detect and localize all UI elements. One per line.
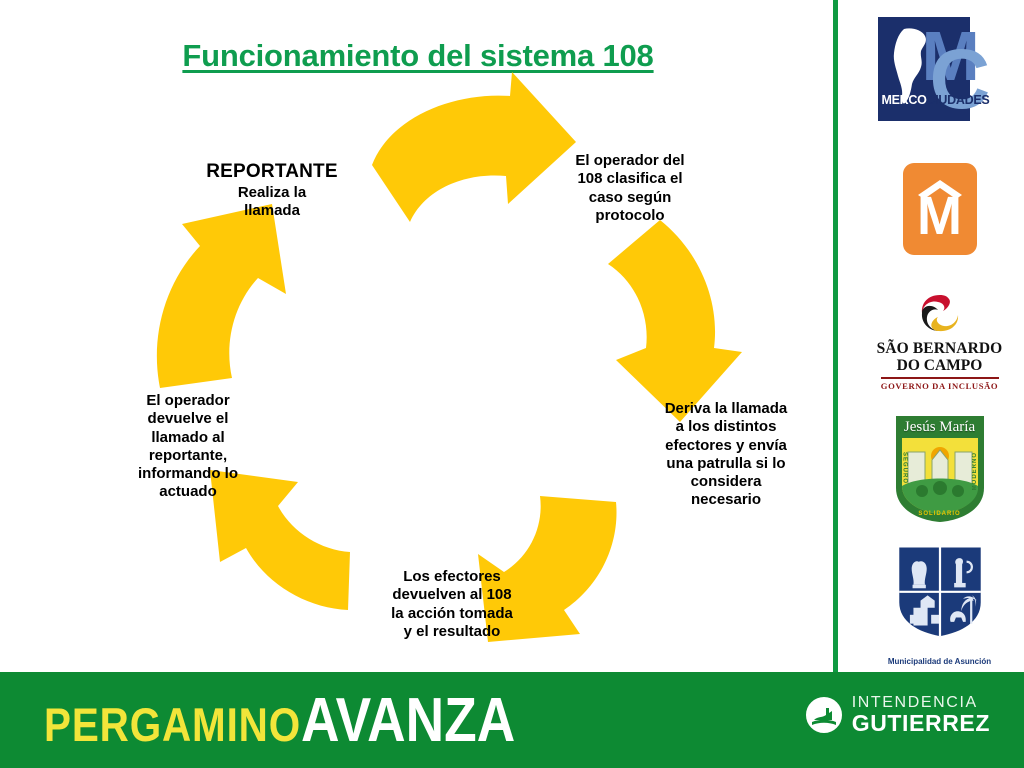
node-deriva-line6: necesario <box>634 491 818 509</box>
mercociudades-letter-c: C <box>930 37 991 121</box>
logo-mercociudades: M C MERCOCIUDADES <box>855 8 1024 132</box>
intendencia-line2: GUTIERREZ <box>852 712 990 735</box>
slide-canvas: Funcionamiento del sistema 108 <box>0 0 1024 768</box>
node-efectores-line1: Los efectores <box>368 568 536 586</box>
node-devuelve-line5: informando lo <box>100 465 276 483</box>
logo-municipalidad-asuncion: Municipalidad de Asunción <box>855 540 1024 670</box>
partner-logo-intendencia-gutierrez: INTENDENCIA GUTIERREZ <box>805 695 990 735</box>
jesus-maria-word-seguro: SEGURO <box>902 452 908 484</box>
intendencia-circle-icon <box>805 696 843 734</box>
node-devuelve-line6: actuado <box>100 483 276 501</box>
node-deriva-line2: a los distintos <box>634 418 818 436</box>
node-efectores-line2: devuelven al 108 <box>368 586 536 604</box>
brand-wordmark: PERGAMINOAVANZA <box>44 690 515 752</box>
node-efectores-line4: y el resultado <box>368 623 536 641</box>
arrow-left-up <box>157 204 286 388</box>
bottom-banner: PERGAMINOAVANZA INTENDENCIA GUTIERREZ <box>0 672 1024 768</box>
node-deriva-line5: considera <box>634 473 818 491</box>
node-clasifica: El operador del 108 clasifica el caso se… <box>546 152 714 225</box>
intendencia-line1: INTENDENCIA <box>852 695 990 711</box>
logo-jesus-maria: Jesús María SEGURO MODERNO SOLIDARIO <box>855 408 1024 528</box>
node-reportante: REPORTANTE Realiza la llamada <box>152 160 392 221</box>
sbc-tagline: GOVERNO DA INCLUSÃO <box>860 381 1020 391</box>
cycle-diagram: REPORTANTE Realiza la llamada El operado… <box>0 0 836 672</box>
node-efectores: Los efectores devuelven al 108 la acción… <box>368 568 536 641</box>
jesus-maria-name: Jesús María <box>892 419 988 436</box>
logo-montevideo: M <box>855 148 1024 270</box>
node-devuelve-line3: llamado al <box>100 429 276 447</box>
sbc-divider <box>881 377 999 379</box>
logo-sidebar: M C MERCOCIUDADES M SÃO BERN <box>855 0 1024 672</box>
node-clasifica-line1: El operador del <box>546 152 714 170</box>
mercociudades-word-ciudades: CIUDADES <box>927 93 990 107</box>
mercociudades-wordmark: MERCOCIUDADES <box>882 93 1002 107</box>
node-reportante-heading: REPORTANTE <box>152 160 392 183</box>
sbc-line2: DO CAMPO <box>860 358 1020 374</box>
node-clasifica-line4: protocolo <box>546 207 714 225</box>
node-devuelve-line4: reportante, <box>100 447 276 465</box>
vertical-divider <box>833 0 838 673</box>
logo-sao-bernardo-do-campo: SÃO BERNARDO DO CAMPO GOVERNO DA INCLUSÃ… <box>855 288 1024 396</box>
node-deriva: Deriva la llamada a los distintos efecto… <box>634 400 818 510</box>
mercociudades-word-merco: MERCO <box>882 93 927 107</box>
brand-word-pergamino: PERGAMINO <box>44 698 301 751</box>
node-reportante-line2: llamada <box>152 202 392 220</box>
node-efectores-line3: la acción tomada <box>368 605 536 623</box>
node-clasifica-line2: 108 clasifica el <box>546 170 714 188</box>
node-deriva-line3: efectores y envía <box>634 437 818 455</box>
node-reportante-line1: Realiza la <box>152 184 392 202</box>
montevideo-box-icon: M <box>903 163 977 255</box>
node-deriva-line4: una patrulla si lo <box>634 455 818 473</box>
jesus-maria-word-solidario: SOLIDARIO <box>892 511 988 517</box>
asuncion-caption: Municipalidad de Asunción <box>870 657 1010 666</box>
node-devuelve: El operador devuelve el llamado al repor… <box>100 392 276 502</box>
brand-word-avanza: AVANZA <box>301 686 515 755</box>
node-devuelve-line2: devuelve el <box>100 410 276 428</box>
jesus-maria-word-moderno: MODERNO <box>972 452 978 490</box>
node-deriva-line1: Deriva la llamada <box>634 400 818 418</box>
asuncion-shield-icon <box>888 544 992 652</box>
node-clasifica-line3: caso según <box>546 189 714 207</box>
node-devuelve-line1: El operador <box>100 392 276 410</box>
swirl-icon <box>919 293 961 333</box>
montevideo-letter-m: M <box>903 189 977 243</box>
sbc-line1: SÃO BERNARDO <box>860 341 1020 357</box>
arrow-right-down <box>608 220 742 422</box>
